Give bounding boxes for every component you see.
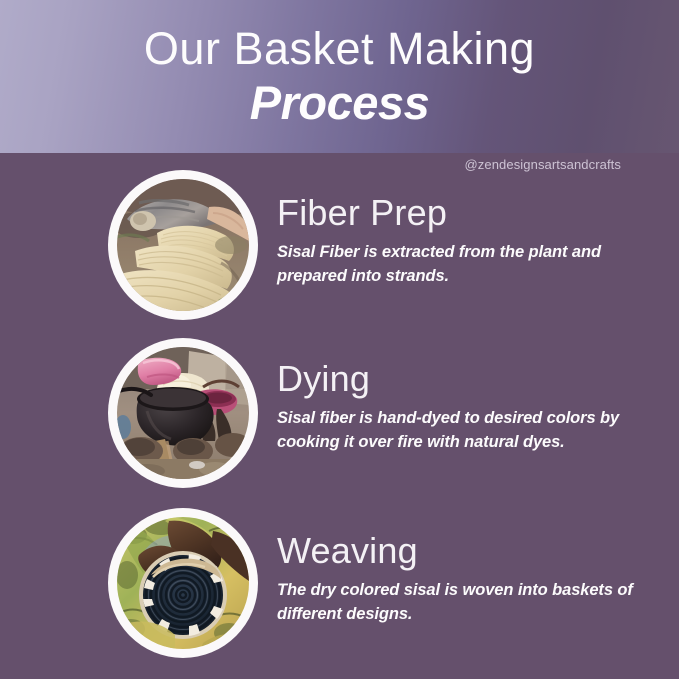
fiber-prep-photo [117, 179, 249, 311]
process-step: Dying Sisal fiber is hand-dyed to desire… [0, 338, 679, 498]
process-step: Fiber Prep Sisal Fiber is extracted from… [0, 170, 679, 330]
header-banner: Our Basket Making Process [0, 0, 679, 153]
step-text-block: Dying Sisal fiber is hand-dyed to desire… [277, 360, 647, 455]
step-description: Sisal Fiber is extracted from the plant … [277, 241, 647, 289]
step-description: The dry colored sisal is woven into bask… [277, 579, 647, 627]
basket-process-infographic: Our Basket Making Process @zendesignsart… [0, 0, 679, 679]
step-thumbnail-ring [108, 338, 258, 488]
process-step: Weaving The dry colored sisal is woven i… [0, 508, 679, 668]
step-thumbnail-ring [108, 170, 258, 320]
step-heading: Weaving [277, 532, 647, 571]
step-heading: Fiber Prep [277, 194, 647, 233]
page-title-line2: Process [0, 79, 679, 126]
page-title-line1: Our Basket Making [0, 26, 679, 71]
dying-photo [117, 347, 249, 479]
step-heading: Dying [277, 360, 647, 399]
step-description: Sisal fiber is hand-dyed to desired colo… [277, 407, 647, 455]
step-text-block: Fiber Prep Sisal Fiber is extracted from… [277, 194, 647, 289]
step-thumbnail-ring [108, 508, 258, 658]
weaving-photo [117, 517, 249, 649]
step-text-block: Weaving The dry colored sisal is woven i… [277, 532, 647, 627]
